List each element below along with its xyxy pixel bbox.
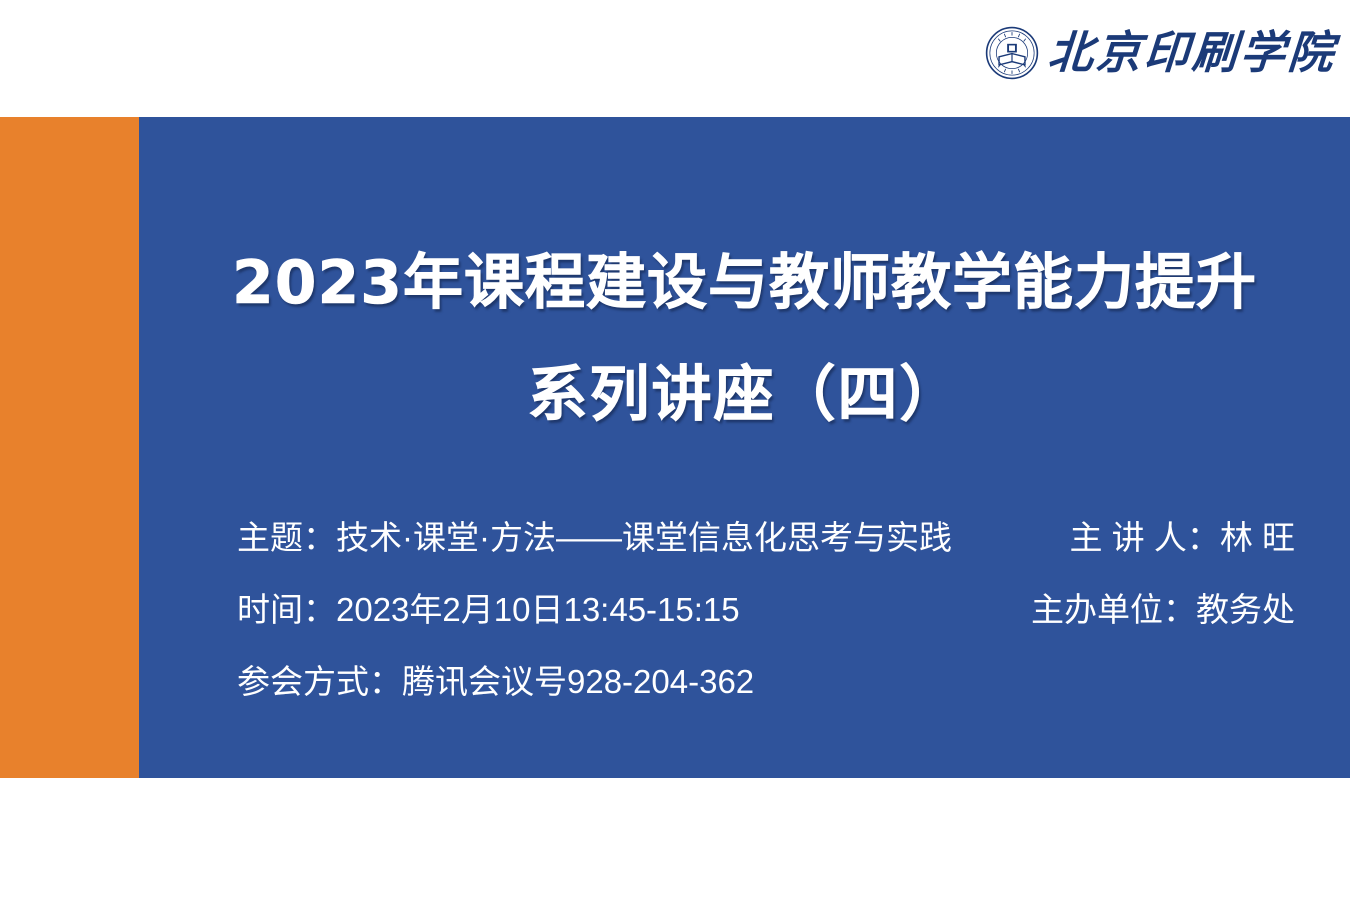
detail-topic-label: 主题：技术·课堂·方法——课堂信息化思考与实践 <box>237 502 952 574</box>
university-wordmark: 北京印刷学院 <box>1046 31 1337 76</box>
detail-time-label: 时间：2023年2月10日13:45-15:15 <box>237 574 740 646</box>
detail-organizer-label: 主办单位：教务处 <box>1031 574 1295 646</box>
orange-accent-bar <box>0 117 139 778</box>
university-logo: 北京印刷学院 <box>985 22 1336 84</box>
detail-join-method-label: 参会方式：腾讯会议号928-204-362 <box>237 646 754 718</box>
detail-row: 主题：技术·课堂·方法——课堂信息化思考与实践 主 讲 人：林 旺 <box>237 502 1295 574</box>
detail-speaker-label: 主 讲 人：林 旺 <box>1069 502 1295 574</box>
detail-row: 参会方式：腾讯会议号928-204-362 <box>237 646 1295 718</box>
university-seal-icon <box>985 26 1039 80</box>
poster-title: 2023年课程建设与教师教学能力提升 系列讲座（四） <box>139 227 1350 451</box>
title-line-1: 2023年课程建设与教师教学能力提升 <box>139 227 1350 339</box>
title-line-2: 系列讲座（四） <box>139 339 1350 451</box>
poster-content: 2023年课程建设与教师教学能力提升 系列讲座（四） 主题：技术·课堂·方法——… <box>139 117 1350 778</box>
poster-details: 主题：技术·课堂·方法——课堂信息化思考与实践 主 讲 人：林 旺 时间：202… <box>237 502 1295 718</box>
detail-row: 时间：2023年2月10日13:45-15:15 主办单位：教务处 <box>237 574 1295 646</box>
lecture-poster-slide: 北京印刷学院 2023年课程建设与教师教学能力提升 系列讲座（四） 主题：技术·… <box>0 0 1350 900</box>
